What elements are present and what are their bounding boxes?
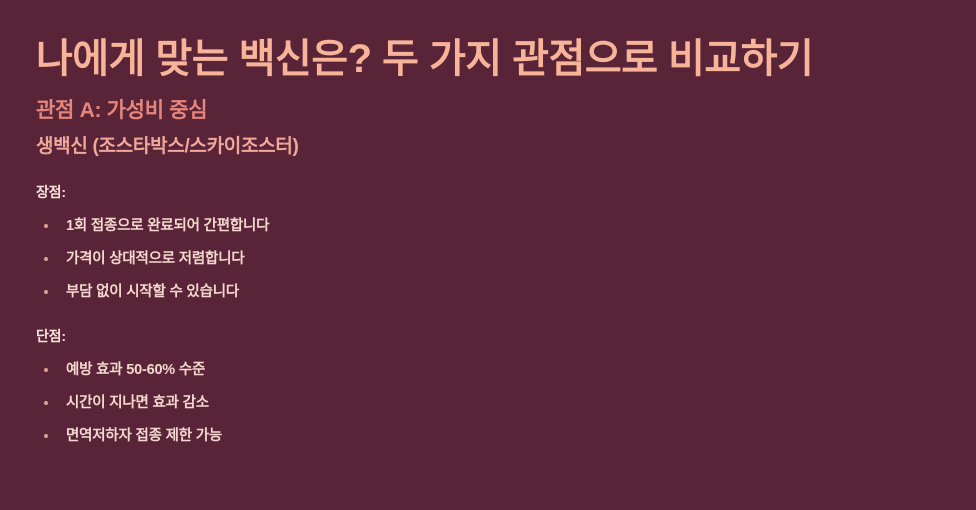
list-item: 1회 접종으로 완료되어 간편합니다 [36, 216, 474, 236]
perspective-a-cons-list: 예방 효과 50-60% 수준 시간이 지나면 효과 감소 면역저하자 접종 제… [36, 360, 474, 446]
list-item-text: 면역저하자 접종 제한 가능 [66, 428, 222, 444]
comparison-columns: 관점 A: 가성비 중심 생백신 (조스타박스/스카이조스터) 장점: 1회 접… [0, 96, 976, 510]
list-item-text: 예방 효과 50-60% 수준 [66, 362, 205, 378]
bullet-dot-icon [44, 434, 48, 438]
page-title: 나에게 맞는 백신은? 두 가지 관점으로 비교하기 [36, 33, 946, 85]
bullet-dot-icon [44, 257, 48, 261]
perspective-a-pros-list: 1회 접종으로 완료되어 간편합니다 가격이 상대적으로 저렴합니다 부담 없이… [36, 216, 474, 302]
perspective-a-heading: 관점 A: 가성비 중심 [36, 96, 474, 126]
column-perspective-a: 관점 A: 가성비 중심 생백신 (조스타박스/스카이조스터) 장점: 1회 접… [0, 96, 488, 510]
bullet-dot-icon [44, 290, 48, 294]
list-item-text: 1회 접종으로 완료되어 간편합니다 [66, 218, 269, 234]
list-item-text: 가격이 상대적으로 저렴합니다 [66, 251, 244, 267]
list-item: 부담 없이 시작할 수 있습니다 [36, 282, 474, 302]
list-item-text: 부담 없이 시작할 수 있습니다 [66, 284, 239, 300]
column-perspective-b: 관점 B: 확실한 효과 사백신 (싱그릭스) 장점: 50세 이상에서 97%… [452, 96, 940, 510]
bullet-dot-icon [44, 401, 48, 405]
perspective-a-vaccine-name: 생백신 (조스타박스/스카이조스터) [36, 134, 474, 160]
list-item: 면역저하자 접종 제한 가능 [36, 426, 474, 446]
list-item: 예방 효과 50-60% 수준 [36, 360, 474, 380]
bullet-dot-icon [44, 368, 48, 372]
comparison-slide: 나에게 맞는 백신은? 두 가지 관점으로 비교하기 관점 A: 가성비 중심 … [0, 0, 976, 489]
list-item-text: 시간이 지나면 효과 감소 [66, 395, 209, 411]
bullet-dot-icon [44, 224, 48, 228]
perspective-a-pros-label: 장점: [36, 182, 474, 202]
list-item: 시간이 지나면 효과 감소 [36, 393, 474, 413]
perspective-a-cons-label: 단점: [36, 326, 474, 346]
list-item: 가격이 상대적으로 저렴합니다 [36, 249, 474, 269]
